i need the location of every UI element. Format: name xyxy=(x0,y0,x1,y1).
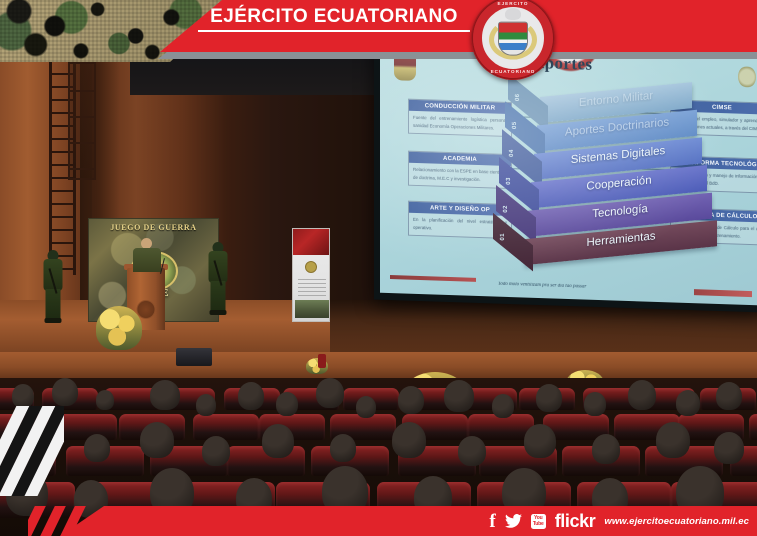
rollup-banner xyxy=(292,228,330,322)
speaker-at-podium xyxy=(131,238,162,272)
corner-diagonal-stripes xyxy=(0,406,64,496)
stack-layer-number: 02 xyxy=(503,205,509,213)
layered-stack-diagram: 06Entorno Militar05Aportes Doctrinarios0… xyxy=(540,87,715,283)
stack-layer-number: 01 xyxy=(500,233,506,241)
slide-callout-academia: ACADEMIA Relacionamiento con la ESPE en … xyxy=(408,151,512,190)
screenshot-canvas: JUEGO DE GUERRA ESPE xyxy=(0,0,757,536)
flickr-link[interactable]: flickr xyxy=(555,511,596,532)
floor-microphone xyxy=(318,354,326,368)
audience-member xyxy=(196,394,216,416)
honor-guard-soldier-center xyxy=(205,242,231,322)
audience-member xyxy=(392,422,426,458)
audience-member xyxy=(52,378,78,406)
audience-member xyxy=(356,396,376,418)
facebook-icon[interactable]: f xyxy=(489,512,495,531)
ladder-rung xyxy=(49,203,76,205)
grid-bar xyxy=(68,142,96,144)
audience-member xyxy=(96,390,114,410)
audience-member xyxy=(316,378,344,408)
youtube-line-2: Tube xyxy=(531,521,546,527)
emblem-condor-icon xyxy=(505,8,521,20)
social-media-links: f You Tube flickr www.ejercitoecuatorian… xyxy=(489,510,749,532)
speaker-uniform xyxy=(133,248,161,272)
slide-footer-bar-left xyxy=(390,275,476,282)
audience-member xyxy=(584,392,606,416)
auditorium-seat xyxy=(193,414,259,440)
youtube-icon[interactable]: You Tube xyxy=(531,514,546,529)
stage-monitor-speaker xyxy=(176,348,212,366)
ladder-rung xyxy=(49,190,76,192)
audience-member xyxy=(150,380,180,410)
stack-layer-number: 04 xyxy=(509,149,515,157)
soldier-boots xyxy=(210,310,227,315)
audience-member xyxy=(202,436,230,466)
audience-member xyxy=(716,382,742,410)
flower-arrangement xyxy=(96,306,142,350)
audience-member xyxy=(628,380,656,410)
wall-grid-panel xyxy=(68,62,96,180)
slide-footer-bar-right xyxy=(694,289,752,297)
twitter-icon[interactable] xyxy=(505,514,522,528)
ladder-rung xyxy=(49,242,76,244)
rollup-banner-text-lines xyxy=(298,279,326,297)
callout-body: Fuente del entrenamiento logística perso… xyxy=(409,111,511,137)
audience-member xyxy=(714,432,744,464)
audience-member xyxy=(238,382,264,410)
emblem-bottom-text: ECUATORIANO xyxy=(471,69,555,74)
ladder-rung xyxy=(49,229,76,231)
title-underline xyxy=(198,30,470,32)
audience-member xyxy=(492,394,514,418)
emblem-top-text: EJERCITO xyxy=(471,1,555,6)
soldier-legs xyxy=(46,289,61,319)
audience-member xyxy=(592,434,620,464)
stack-layer-number: 06 xyxy=(515,93,521,101)
projection-screen: Aportes CONDUCCIÓN MILITAR Fuente del en… xyxy=(374,35,757,313)
footer-diagonal-stripes xyxy=(28,506,138,536)
slide-footer-note: Todo molo ventilizam pra ser dia tão pas… xyxy=(498,282,586,290)
audience-member xyxy=(262,424,294,458)
rollup-banner-header xyxy=(293,229,329,255)
audience-member xyxy=(84,434,110,462)
audience-member xyxy=(330,434,356,462)
rollup-banner-seal xyxy=(305,261,317,273)
grid-bar xyxy=(68,116,96,118)
ecuadorian-army-coat-of-arms-icon: EJERCITO ECUATORIANO xyxy=(471,0,555,80)
event-photograph: JUEGO DE GUERRA ESPE xyxy=(0,0,757,536)
stack-layer-number: 03 xyxy=(506,177,512,185)
presentation-slide: Aportes CONDUCCIÓN MILITAR Fuente del en… xyxy=(380,40,757,306)
rollup-banner-photo xyxy=(295,300,329,318)
soldier-boots xyxy=(45,318,62,323)
audience-member xyxy=(398,386,424,414)
podium-emblem xyxy=(137,300,156,319)
grid-bar xyxy=(68,90,96,92)
page-title: EJÉRCITO ECUATORIANO xyxy=(198,6,470,28)
audience-member xyxy=(12,384,34,408)
ladder-rung xyxy=(49,216,76,218)
emblem-shield xyxy=(498,22,528,56)
audience-member xyxy=(524,424,556,458)
slide-callout-conduccion-militar: CONDUCCIÓN MILITAR Fuente del entrenamie… xyxy=(408,99,512,138)
audience-member xyxy=(140,422,174,458)
honor-guard-soldier-left xyxy=(40,250,66,324)
audience-member xyxy=(276,392,298,416)
soldier-legs xyxy=(211,281,226,311)
website-url[interactable]: www.ejercitoecuatoriano.mil.ec xyxy=(604,516,749,527)
stack-layer: 01Herramientas xyxy=(525,227,717,264)
backdrop-title: JUEGO DE GUERRA xyxy=(89,223,218,232)
stack-layer-number: 05 xyxy=(512,121,518,129)
audience-member xyxy=(536,384,562,412)
audience-member xyxy=(676,390,700,416)
audience-member xyxy=(444,380,474,412)
audience-member xyxy=(458,436,486,466)
auditorium-seat xyxy=(749,414,757,440)
grid-bar xyxy=(68,168,96,170)
slide-crest-right-icon xyxy=(738,66,756,89)
audience-member xyxy=(656,422,690,458)
